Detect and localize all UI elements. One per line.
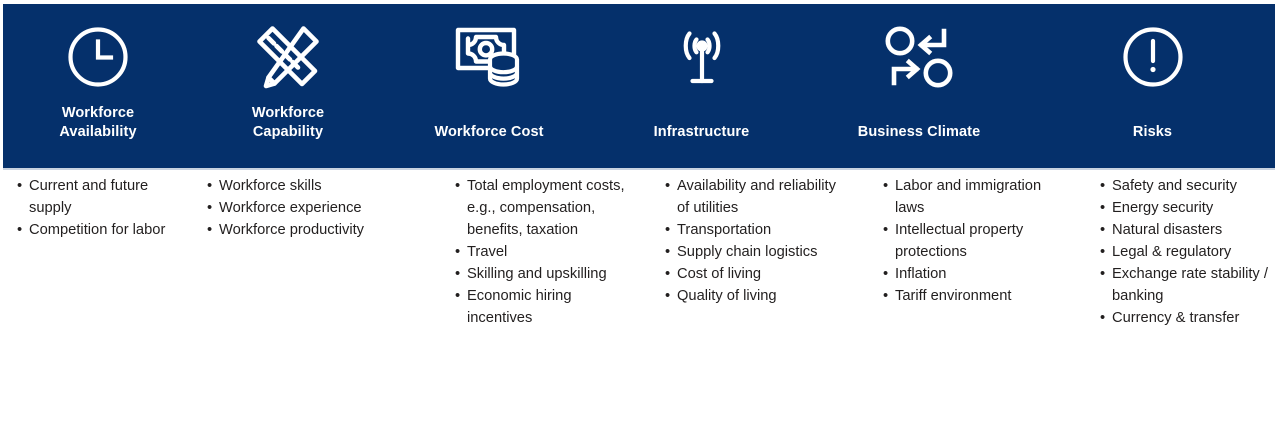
bullet-item: •Safety and security (1100, 175, 1272, 197)
bullet-column-workforce-availability: •Current and future supply•Competition f… (0, 175, 190, 437)
bullet-text: Legal & regulatory (1112, 244, 1231, 260)
bullet-text: Workforce experience (219, 200, 362, 216)
category-title: Workforce Cost (383, 123, 595, 142)
bullet-text: Labor and immigration laws (895, 178, 1041, 216)
ruler-pencil-icon (193, 20, 383, 94)
location-criteria-infographic: Workforce Availability (0, 0, 1280, 437)
bullet-item: •Exchange rate stability / banking (1100, 263, 1272, 307)
bullet-item: •Workforce productivity (207, 219, 426, 241)
bullet-item: •Economic hiring incentives (455, 285, 636, 329)
bullet-text: Inflation (895, 266, 946, 282)
bullet-item: •Quality of living (665, 285, 852, 307)
header-column-workforce-capability[interactable]: Workforce Capability (193, 4, 383, 168)
bullet-item: •Labor and immigration laws (883, 175, 1069, 219)
bullet-glyph: • (883, 285, 888, 307)
bullet-glyph: • (665, 175, 670, 197)
clock-icon (3, 20, 193, 94)
bullet-glyph: • (207, 197, 212, 219)
bullet-text: Economic hiring incentives (467, 288, 572, 326)
bullet-glyph: • (455, 175, 460, 197)
bullet-item: •Intellectual property protections (883, 219, 1069, 263)
bullet-item: •Workforce experience (207, 197, 426, 219)
category-title: Business Climate (808, 123, 1030, 142)
category-title: Infrastructure (595, 123, 808, 142)
bullet-text: Currency & transfer (1112, 310, 1239, 326)
criteria-bullets-area: •Current and future supply•Competition f… (0, 175, 1280, 437)
bullet-list: •Total employment costs, e.g., compensat… (455, 175, 636, 329)
bullet-item: •Total employment costs, e.g., compensat… (455, 175, 636, 241)
bullet-item: •Skilling and upskilling (455, 263, 636, 285)
bullet-column-risks: •Safety and security•Energy security•Nat… (1083, 175, 1280, 437)
bullet-text: Safety and security (1112, 178, 1237, 194)
bullet-glyph: • (665, 241, 670, 263)
category-title: Workforce Availability (3, 104, 193, 142)
bullet-column-workforce-cost: •Total employment costs, e.g., compensat… (438, 175, 648, 437)
bullet-text: Quality of living (677, 288, 777, 304)
bullet-column-workforce-capability: •Workforce skills•Workforce experience•W… (190, 175, 438, 437)
bullet-glyph: • (1100, 241, 1105, 263)
bullet-item: •Legal & regulatory (1100, 241, 1272, 263)
bullet-glyph: • (665, 219, 670, 241)
bullet-text: Tariff environment (895, 288, 1011, 304)
header-column-workforce-cost[interactable]: Workforce Cost (383, 4, 595, 168)
bullet-glyph: • (17, 219, 22, 241)
bullet-item: •Cost of living (665, 263, 852, 285)
broadcast-tower-icon (595, 20, 808, 94)
header-column-business-climate[interactable]: Business Climate (808, 4, 1030, 168)
header-band: Workforce Availability (3, 4, 1275, 168)
bullet-glyph: • (455, 285, 460, 307)
bullet-text: Natural disasters (1112, 222, 1222, 238)
bullet-glyph: • (665, 263, 670, 285)
bullet-text: Skilling and upskilling (467, 266, 607, 282)
header-column-workforce-availability[interactable]: Workforce Availability (3, 4, 193, 168)
bullet-list: •Labor and immigration laws•Intellectual… (883, 175, 1069, 307)
bullet-item: •Travel (455, 241, 636, 263)
bullet-text: Supply chain logistics (677, 244, 817, 260)
bullet-column-business-climate: •Labor and immigration laws•Intellectual… (866, 175, 1083, 437)
bullet-item: •Availability and reliability of utiliti… (665, 175, 852, 219)
bullet-list: •Safety and security•Energy security•Nat… (1100, 175, 1272, 329)
bullet-text: Exchange rate stability / banking (1112, 266, 1268, 304)
bullet-text: Availability and reliability of utilitie… (677, 178, 836, 216)
category-title: Workforce Capability (193, 104, 383, 142)
bullet-text: Workforce productivity (219, 222, 364, 238)
bullet-glyph: • (455, 241, 460, 263)
bullet-column-infrastructure: •Availability and reliability of utiliti… (648, 175, 866, 437)
bullet-item: •Transportation (665, 219, 852, 241)
band-separator (3, 168, 1275, 170)
category-title: Risks (1030, 123, 1275, 142)
bullet-glyph: • (207, 219, 212, 241)
bullet-item: •Natural disasters (1100, 219, 1272, 241)
bullet-list: •Current and future supply•Competition f… (17, 175, 180, 241)
bullet-item: •Competition for labor (17, 219, 180, 241)
bullet-glyph: • (1100, 197, 1105, 219)
bullet-glyph: • (207, 175, 212, 197)
header-column-infrastructure[interactable]: Infrastructure (595, 4, 808, 168)
bullet-text: Current and future supply (29, 178, 148, 216)
bullet-text: Transportation (677, 222, 771, 238)
bullet-item: •Supply chain logistics (665, 241, 852, 263)
bullet-glyph: • (1100, 263, 1105, 285)
bullet-item: •Inflation (883, 263, 1069, 285)
bullet-glyph: • (455, 263, 460, 285)
bullet-text: Intellectual property protections (895, 222, 1023, 260)
header-column-risks[interactable]: Risks (1030, 4, 1275, 168)
bullet-item: •Current and future supply (17, 175, 180, 219)
bullet-text: Competition for labor (29, 222, 165, 238)
bullet-text: Workforce skills (219, 178, 322, 194)
bullet-glyph: • (1100, 175, 1105, 197)
bullet-glyph: • (1100, 219, 1105, 241)
bullet-item: •Currency & transfer (1100, 307, 1272, 329)
bullet-glyph: • (665, 285, 670, 307)
bullet-glyph: • (883, 175, 888, 197)
bullet-text: Total employment costs, e.g., compensati… (467, 178, 625, 238)
bullet-list: •Workforce skills•Workforce experience•W… (207, 175, 426, 241)
exclamation-circle-icon (1030, 20, 1275, 94)
bullet-list: •Availability and reliability of utiliti… (665, 175, 852, 307)
header-columns: Workforce Availability (3, 4, 1275, 168)
bullet-glyph: • (1100, 307, 1105, 329)
bullet-glyph: • (17, 175, 22, 197)
bullet-item: •Energy security (1100, 197, 1272, 219)
exchange-circles-icon (808, 20, 1030, 94)
bullet-item: •Tariff environment (883, 285, 1069, 307)
bullet-glyph: • (883, 263, 888, 285)
bullet-text: Energy security (1112, 200, 1213, 216)
bullet-item: •Workforce skills (207, 175, 426, 197)
money-coins-icon (383, 20, 595, 94)
bullet-text: Travel (467, 244, 507, 260)
bullet-text: Cost of living (677, 266, 761, 282)
bullet-glyph: • (883, 219, 888, 241)
